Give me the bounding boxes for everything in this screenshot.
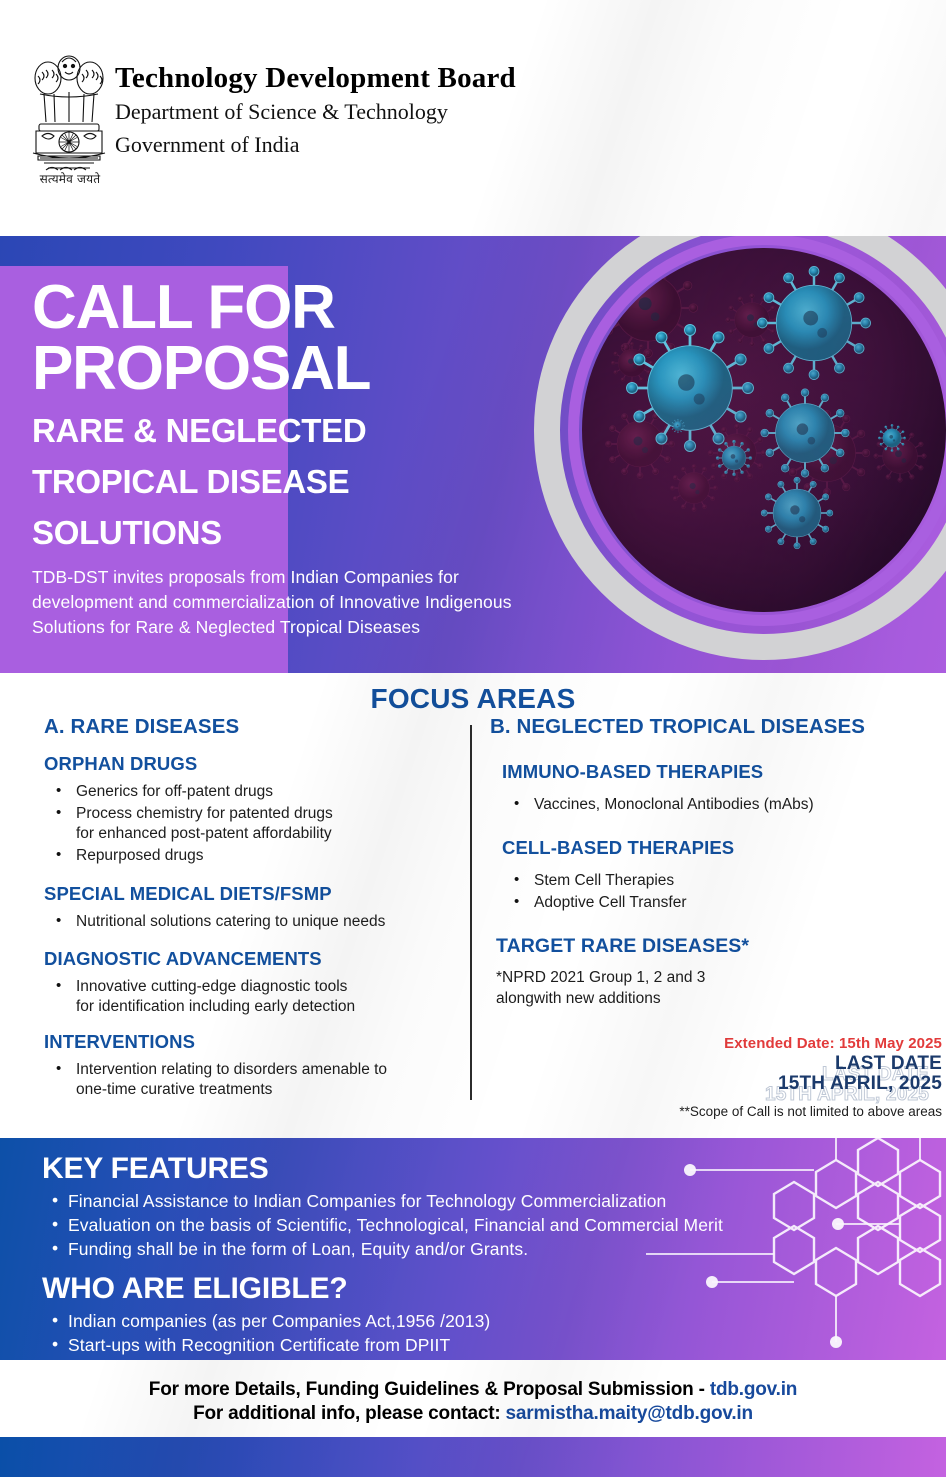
dates-block: Extended Date: 15th May 2025 LAST DATE 1… [472,1035,942,1119]
bottom-gradient-bar [0,1437,946,1477]
section-interventions: INTERVENTIONS Intervention relating to d… [44,1031,459,1100]
list-item: Nutritional solutions catering to unique… [44,912,459,932]
section-diagnostic-advancements: DIAGNOSTIC ADVANCEMENTS Innovative cutti… [44,948,459,1017]
list-item: Indian companies (as per Companies Act,1… [52,1310,946,1334]
extended-date: Extended Date: 15th May 2025 [472,1035,942,1052]
list-item: Intervention relating to disorders amena… [44,1060,459,1100]
hero-banner: CALL FOR PROPOSAL RARE & NEGLECTED TROPI… [0,236,946,673]
last-date-stack: LAST DATE 15TH APRIL, 2025 LAST DATE 15T… [472,1054,942,1102]
list-item: Repurposed drugs [44,846,459,866]
list-item: Adoptive Cell Transfer [502,893,930,913]
key-features-band: KEY FEATURES Financial Assistance to Ind… [0,1138,946,1360]
section-heading: ORPHAN DRUGS [44,753,459,775]
key-features-content: KEY FEATURES Financial Assistance to Ind… [0,1138,946,1358]
virus-image [582,248,946,612]
hero-text: CALL FOR PROPOSAL RARE & NEGLECTED TROPI… [0,236,560,640]
footer-line-2: For additional info, please contact: sar… [0,1402,946,1426]
last-date-value: 15TH APRIL, 2025 [778,1073,942,1094]
list-item: Innovative cutting-edge diagnostic tools… [44,977,459,1017]
footer-details-text: For more Details, Funding Guidelines & P… [149,1379,710,1400]
focus-right-column: B. NEGLECTED TROPICAL DISEASES IMMUNO-BA… [490,715,930,1009]
virus-circle-graphic [534,236,946,673]
category-b-heading: B. NEGLECTED TROPICAL DISEASES [490,715,930,739]
hero-subtitle-line1: RARE & NEGLECTED [32,410,560,451]
poster-footer: For more Details, Funding Guidelines & P… [0,1360,946,1437]
section-cell-based-therapies: CELL-BASED THERAPIES Stem Cell Therapies… [490,837,930,913]
virus-texture [582,248,946,612]
list-item: Funding shall be in the form of Loan, Eq… [52,1238,946,1262]
list-item: Evaluation on the basis of Scientific, T… [52,1214,946,1238]
list-item: Process chemistry for patented drugs for… [44,804,459,844]
focus-left-column: A. RARE DISEASES ORPHAN DRUGS Generics f… [44,715,459,1102]
section-heading: DIAGNOSTIC ADVANCEMENTS [44,948,459,970]
footer-line-1: For more Details, Funding Guidelines & P… [0,1360,946,1402]
target-note: *NPRD 2021 Group 1, 2 and 3 alongwith ne… [496,968,930,1008]
section-immuno-based-therapies: IMMUNO-BASED THERAPIES Vaccines, Monoclo… [490,761,930,815]
hero-description: TDB-DST invites proposals from Indian Co… [32,565,560,640]
section-heading: IMMUNO-BASED THERAPIES [502,761,930,783]
target-heading: TARGET RARE DISEASES* [496,935,930,958]
list-item: Generics for off-patent drugs [44,782,459,802]
key-features-heading: KEY FEATURES [42,1152,946,1186]
last-date-main: LAST DATE 15TH APRIL, 2025 [472,1054,942,1095]
list-item: Stem Cell Therapies [502,871,930,891]
bullet-list: Nutritional solutions catering to unique… [44,912,459,932]
section-orphan-drugs: ORPHAN DRUGS Generics for off-patent dru… [44,753,459,867]
contact-email-link[interactable]: sarmistha.maity@tdb.gov.in [506,1403,753,1424]
list-item: Financial Assistance to Indian Companies… [52,1190,946,1214]
footer-contact-text: For additional info, please contact: [193,1403,505,1424]
list-item: Start-ups with Recognition Certificate f… [52,1334,946,1358]
scope-note: **Scope of Call is not limited to above … [472,1104,942,1119]
section-target-rare-diseases: TARGET RARE DISEASES* *NPRD 2021 Group 1… [490,935,930,1008]
key-features-list: Financial Assistance to Indian Companies… [52,1190,946,1262]
bullet-list: Intervention relating to disorders amena… [44,1060,459,1100]
last-date-label: LAST DATE [835,1053,942,1074]
hero-subtitle-line2: TROPICAL DISEASE [32,461,560,502]
org-title: Technology Development Board [115,62,516,94]
bullet-list: Stem Cell Therapies Adoptive Cell Transf… [502,871,930,913]
poster-page: सत्यमेव जयते Technology Development Boar… [0,0,946,1477]
eligibility-list: Indian companies (as per Companies Act,1… [52,1310,946,1358]
section-heading: SPECIAL MEDICAL DIETS/FSMP [44,883,459,905]
hero-subtitle-line3: SOLUTIONS [32,512,560,553]
gov-title: Government of India [115,131,516,160]
bullet-list: Innovative cutting-edge diagnostic tools… [44,977,459,1017]
hero-title-line2: PROPOSAL [32,339,560,400]
section-heading: CELL-BASED THERAPIES [502,837,930,859]
section-heading: INTERVENTIONS [44,1031,459,1053]
focus-areas-section: FOCUS AREAS A. RARE DISEASES ORPHAN DRUG… [0,673,946,1138]
bullet-list: Vaccines, Monoclonal Antibodies (mAbs) [502,795,930,815]
emblem-motto: सत्यमेव जयते [22,170,118,187]
bullet-list: Generics for off-patent drugs Process ch… [44,782,459,867]
tdb-website-link[interactable]: tdb.gov.in [710,1379,797,1400]
category-a-heading: A. RARE DISEASES [44,715,459,739]
section-special-medical-diets: SPECIAL MEDICAL DIETS/FSMP Nutritional s… [44,883,459,932]
list-item: Vaccines, Monoclonal Antibodies (mAbs) [502,795,930,815]
who-are-eligible-heading: WHO ARE ELIGIBLE? [42,1272,946,1306]
focus-areas-title: FOCUS AREAS [0,683,946,715]
hero-title-line1: CALL FOR [32,278,560,339]
header-titles: Technology Development Board Department … [115,62,516,160]
poster-header: सत्यमेव जयते Technology Development Boar… [0,0,946,236]
dept-title: Department of Science & Technology [115,98,516,127]
